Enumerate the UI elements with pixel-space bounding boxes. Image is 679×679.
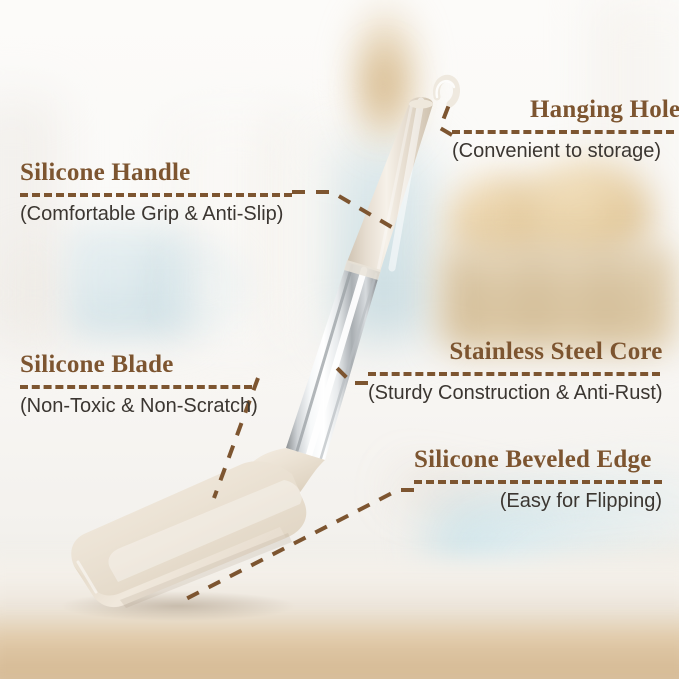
annotation-rule — [452, 130, 674, 134]
annotation-stainless-steel-core: Stainless Steel Core (Sturdy Constructio… — [368, 339, 663, 405]
annotation-rule — [414, 480, 662, 484]
annotation-title: Silicone Handle — [20, 160, 292, 185]
product-infographic: Silicone Handle (Comfortable Grip & Anti… — [0, 0, 679, 679]
annotation-rule — [20, 193, 292, 197]
annotation-rule — [20, 385, 252, 389]
annotation-subtitle: (Non-Toxic & Non-Scratch) — [20, 395, 258, 418]
annotation-subtitle: (Easy for Flipping) — [414, 490, 662, 513]
annotation-silicone-blade: Silicone Blade (Non-Toxic & Non-Scratch) — [20, 352, 258, 418]
annotation-silicone-beveled-edge: Silicone Beveled Edge (Easy for Flipping… — [414, 447, 662, 513]
annotation-silicone-handle: Silicone Handle (Comfortable Grip & Anti… — [20, 160, 292, 226]
annotation-subtitle: (Comfortable Grip & Anti-Slip) — [20, 203, 292, 226]
annotation-title: Hanging Hole — [452, 97, 679, 122]
stainless-steel-core-body — [286, 262, 380, 460]
annotation-subtitle: (Sturdy Construction & Anti-Rust) — [368, 382, 663, 405]
annotation-rule — [368, 372, 660, 376]
annotation-title: Silicone Beveled Edge — [414, 447, 662, 472]
annotation-subtitle: (Convenient to storage) — [452, 140, 679, 163]
annotation-title: Silicone Blade — [20, 352, 258, 377]
handle-cap — [409, 100, 433, 109]
annotation-hanging-hole: Hanging Hole (Convenient to storage) — [452, 97, 679, 163]
annotation-title: Stainless Steel Core — [368, 339, 663, 364]
